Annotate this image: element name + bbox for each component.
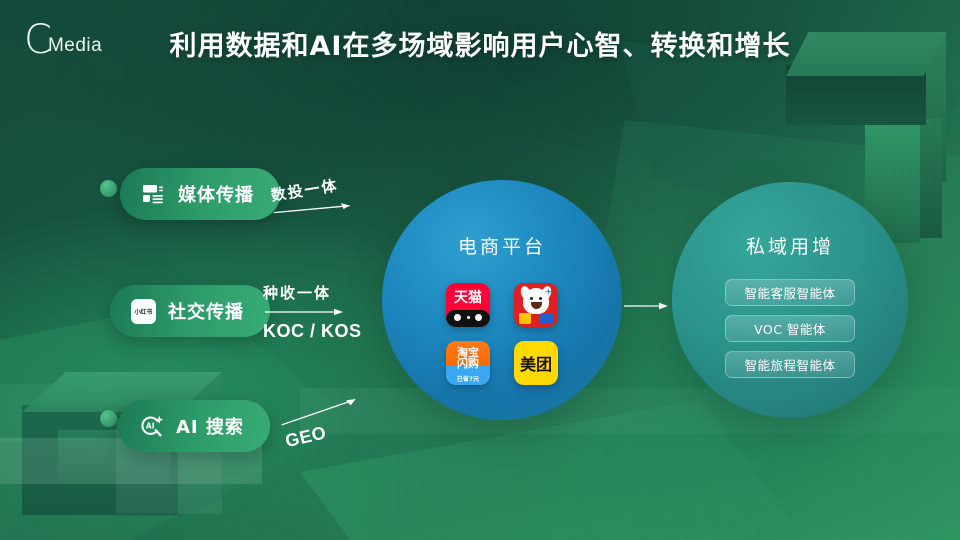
xiaohongshu-icon: 小红书 <box>130 298 156 324</box>
jd-eye-left <box>530 297 533 300</box>
channel-label-social: 社交传播 <box>168 298 244 324</box>
slide-canvas: C Media 利用数据和AI在多场域影响用户心智、转换和增长 媒体传播 小红书… <box>0 0 960 540</box>
channel-pill-ai-search[interactable]: AI AI 搜索 <box>118 400 270 452</box>
agent-chip[interactable]: 智能客服智能体 <box>725 279 855 306</box>
channel-pill-social[interactable]: 小红书 社交传播 <box>110 285 270 337</box>
ecommerce-app-grid: 天猫 淘宝 闪购 已省7元 <box>446 283 558 385</box>
private-domain-circle: 私域用增 智能客服智能体 VOC 智能体 智能旅程智能体 <box>672 182 908 418</box>
media-layout-icon <box>140 181 166 207</box>
svg-text:AI: AI <box>145 421 154 430</box>
flow-arrow-social-icon <box>263 307 349 317</box>
tmall-eye-right <box>475 314 482 321</box>
tmall-eye-left <box>454 314 461 321</box>
channel-pill-media[interactable]: 媒体传播 <box>120 168 280 220</box>
taobao-flash-line2: 闪购 <box>446 355 490 371</box>
bg-light-band-right <box>300 388 960 434</box>
jd-icon[interactable] <box>514 283 558 327</box>
jd-dog-head <box>523 288 549 314</box>
channel-label-ai-search: AI 搜索 <box>176 413 244 439</box>
flow-text-social-cn: 种收一体 <box>263 282 362 303</box>
deco-3d-t-stem-side <box>920 118 942 238</box>
flow-text-social-en: KOC / KOS <box>263 321 362 342</box>
ecommerce-circle: 电商平台 天猫 淘宝 闪购 <box>382 180 622 420</box>
tmall-icon[interactable]: 天猫 <box>446 283 490 327</box>
private-domain-title: 私域用增 <box>746 232 834 259</box>
agent-chip-list: 智能客服智能体 VOC 智能体 智能旅程智能体 <box>725 279 855 378</box>
taobao-flash-line3: 已省7元 <box>446 374 490 383</box>
agent-chip[interactable]: VOC 智能体 <box>725 315 855 342</box>
channel-label-media: 媒体传播 <box>178 181 254 207</box>
taobao-flash-icon[interactable]: 淘宝 闪购 已省7元 <box>446 341 490 385</box>
jd-blue-box <box>540 314 554 324</box>
jd-eye-right <box>539 297 542 300</box>
meituan-icon[interactable]: 美团 <box>514 341 558 385</box>
connector-dot-ai <box>100 410 117 427</box>
tmall-nose <box>467 316 470 319</box>
middle-arrow-icon <box>624 300 672 312</box>
jd-yellow-box <box>519 313 531 324</box>
flow-label-media: 数投一体 <box>269 172 360 226</box>
agent-chip[interactable]: 智能旅程智能体 <box>725 351 855 378</box>
connector-dot-media <box>100 180 117 197</box>
meituan-label: 美团 <box>520 351 552 375</box>
tmall-label: 天猫 <box>446 287 490 307</box>
ecommerce-title: 电商平台 <box>458 232 546 259</box>
ai-search-icon: AI <box>138 413 164 439</box>
page-title: 利用数据和AI在多场域影响用户心智、转换和增长 <box>0 24 960 63</box>
flow-label-social: 种收一体 KOC / KOS <box>263 282 362 342</box>
